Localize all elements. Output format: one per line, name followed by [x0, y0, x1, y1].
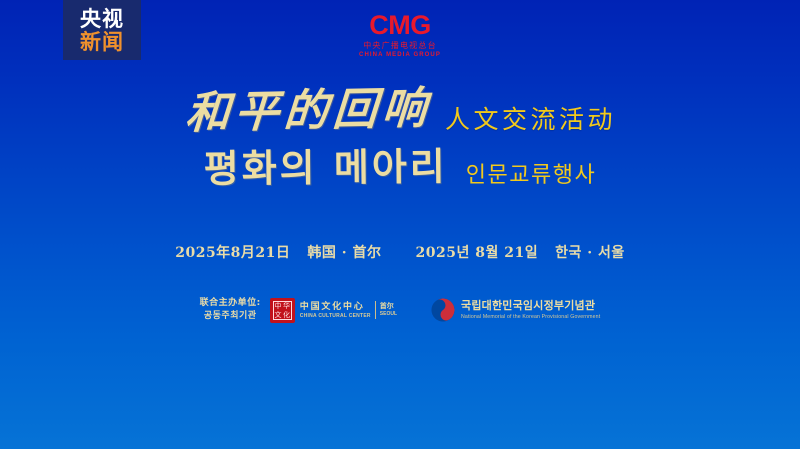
- ccc-name-english: CHINA CULTURAL CENTER: [300, 313, 371, 320]
- title-main-korean: 평화의 메아리: [203, 143, 447, 192]
- taegeuk-icon: [431, 298, 455, 322]
- cmg-logo: CMG 中央广播电视总台 CHINA MEDIA GROUP: [0, 12, 800, 59]
- title-row-chinese: 和平的回响 人文交流活动: [0, 88, 800, 140]
- title-sub-korean: 인문교류행사: [466, 162, 596, 190]
- event-place-korean: 한국 · 서울: [555, 243, 625, 263]
- kpg-name-english: National Memorial of the Korean Provisio…: [461, 313, 600, 321]
- event-date-chinese: 2025年8月21日: [175, 243, 290, 263]
- kpg-name-block: 국립대한민국임시정부기념관 National Memorial of the K…: [461, 299, 600, 321]
- seal-inner: 中 华 文 化: [273, 301, 292, 320]
- title-row-korean: 평화의 메아리 인문교류행사: [0, 146, 800, 192]
- kpg-name-korean: 국립대한민국임시정부기념관: [461, 299, 600, 313]
- chinese-seal-icon: 中 华 文 化: [270, 298, 295, 323]
- ccc-city-block: 首尔 SEOUL: [380, 302, 397, 318]
- cmg-wordmark: CMG: [369, 12, 431, 39]
- china-cultural-center-logo: 中 华 文 化 中国文化中心 CHINA CULTURAL CENTER 首尔 …: [270, 298, 397, 323]
- sponsor-label-chinese: 联合主办单位:: [200, 297, 261, 310]
- sponsor-label-korean: 공동주최기관: [200, 310, 261, 323]
- seal-char-3: 文: [274, 311, 283, 320]
- title-block: 和平的回响 人文交流活动 평화의 메아리 인문교류행사: [0, 88, 800, 192]
- ccc-name-block: 中国文化中心 CHINA CULTURAL CENTER: [300, 301, 371, 320]
- cmg-english-name: CHINA MEDIA GROUP: [359, 51, 441, 59]
- event-place-chinese: 韩国 · 首尔: [307, 243, 381, 263]
- event-datetime-location: 2025年8月21日 韩国 · 首尔 2025년 8월 21일 한국 · 서울: [0, 243, 800, 263]
- title-sub-chinese: 人文交流活动: [445, 105, 616, 135]
- seal-char-2: 华: [282, 302, 291, 311]
- sponsor-label: 联合主办单位: 공동주최기관: [200, 297, 261, 323]
- title-main-chinese: 和平的回响: [184, 83, 433, 140]
- seal-char-1: 中: [274, 302, 283, 311]
- sponsor-row: 联合主办单位: 공동주최기관 中 华 文 化 中国文化中心 CHINA CULT…: [0, 297, 800, 323]
- divider: [375, 301, 376, 319]
- korean-provisional-government-memorial-logo: 국립대한민국임시정부기념관 National Memorial of the K…: [431, 298, 600, 322]
- event-poster: 央视 新闻 CMG 中央广播电视总台 CHINA MEDIA GROUP 和平的…: [0, 0, 800, 449]
- ccc-name-chinese: 中国文化中心: [300, 301, 371, 313]
- ccc-city-chinese: 首尔: [380, 302, 397, 311]
- event-date-korean: 2025년 8월 21일: [416, 243, 539, 263]
- seal-char-4: 化: [282, 311, 291, 320]
- cmg-chinese-name: 中央广播电视总台: [363, 40, 437, 51]
- ccc-city-english: SEOUL: [380, 311, 397, 318]
